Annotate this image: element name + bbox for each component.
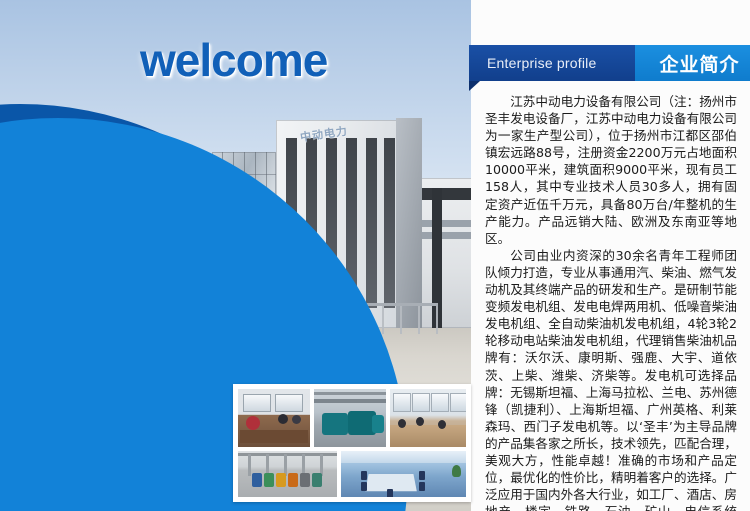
company-description: 江苏中动电力设备有限公司（注：扬州市圣丰发电设备厂，江苏中动电力设备有限公司为一… xyxy=(485,93,737,511)
photo-collage xyxy=(233,384,471,502)
banner-chinese-segment: 企业简介 xyxy=(635,45,750,81)
collage-row-top xyxy=(238,389,466,447)
conference-hall-photo xyxy=(341,451,466,497)
generator-workshop-photo xyxy=(314,389,386,447)
collage-row-bottom xyxy=(238,451,466,497)
company-profile-page: 中动电力 江苏中动电力设备有限公司 xyxy=(0,0,750,511)
banner-chinese-label: 企业简介 xyxy=(645,50,739,77)
profile-panel: Enterprise profile 企业简介 江苏中动电力设备有限公司（注：扬… xyxy=(471,0,750,511)
paragraph-overview: 江苏中动电力设备有限公司（注：扬州市圣丰发电设备厂，江苏中动电力设备有限公司为一… xyxy=(485,93,737,247)
paragraph-products: 公司由业内资深的30余名青年工程师团队倾力打造，专业从事通用汽、柴油、燃气发动机… xyxy=(485,247,737,511)
open-office-photo xyxy=(390,389,466,447)
banner-english-segment: Enterprise profile xyxy=(469,45,635,81)
banner-english-label: Enterprise profile xyxy=(469,55,596,71)
welcome-title: welcome xyxy=(140,33,440,87)
section-banner: Enterprise profile 企业简介 xyxy=(469,45,750,81)
assembly-line-photo xyxy=(238,451,337,497)
banner-fold-corner xyxy=(469,81,480,91)
office-side-wall xyxy=(396,118,422,328)
meeting-room-photo xyxy=(238,389,310,447)
